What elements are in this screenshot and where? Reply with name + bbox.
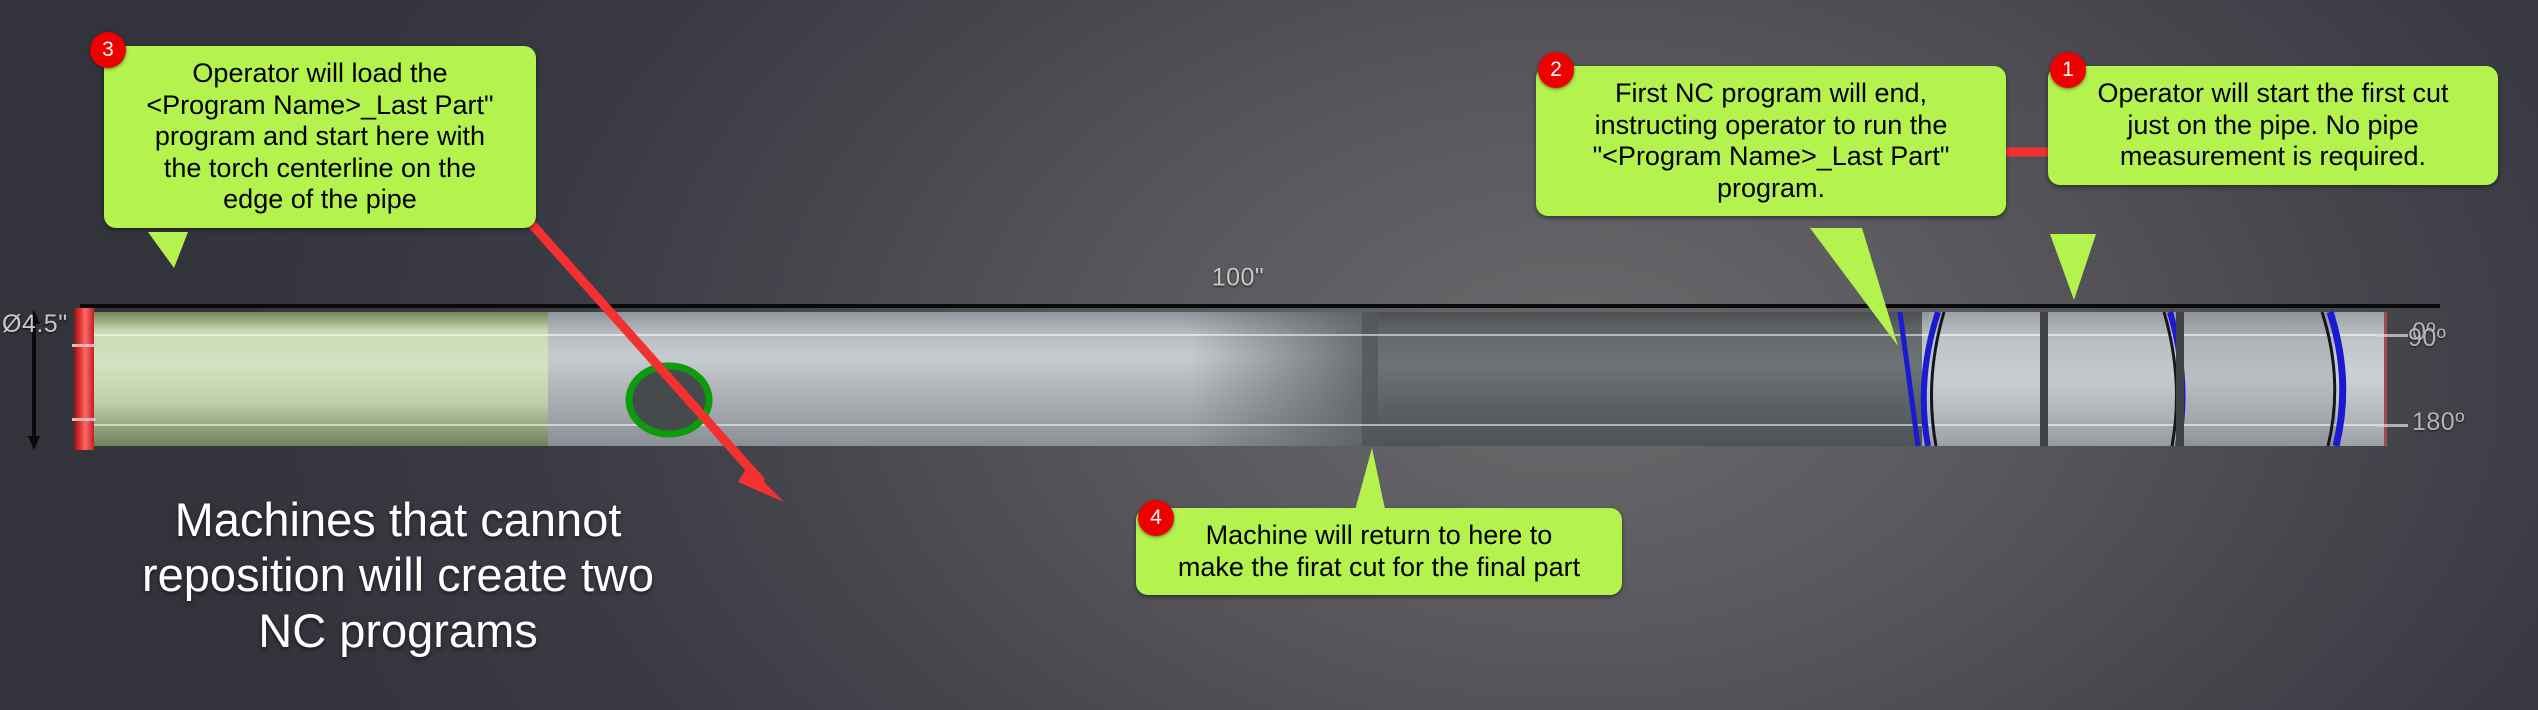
callout-3-line-1: Operator will load the (120, 58, 520, 90)
pipe-end-cap-tick-lower (72, 418, 96, 421)
callout-3-line-4: the torch centerline on the (120, 153, 520, 185)
degree-tick-0 (2376, 334, 2408, 337)
title-line-3: NC programs (98, 603, 698, 658)
callout-3-line-2: <Program Name>_Last Part" (120, 90, 520, 122)
callout-3-line-5: edge of the pipe (120, 184, 520, 216)
callout-1-badge: 1 (2050, 52, 2086, 88)
callout-4-line-2: make the firat cut for the final part (1152, 552, 1606, 584)
callout-1-line-1: Operator will start the first cut (2064, 78, 2482, 110)
callout-1-line-3: measurement is required. (2064, 141, 2482, 173)
callout-4-badge: 4 (1138, 500, 1174, 536)
title-line-1: Machines that cannot (98, 492, 698, 547)
callout-3-badge: 3 (90, 32, 126, 68)
callout-4-line-1: Machine will return to here to (1152, 520, 1606, 552)
callout-3-line-3: program and start here with (120, 121, 520, 153)
callout-2-line-4: program. (1552, 173, 1990, 205)
callout-3-tail (148, 232, 188, 268)
callout-1-line-2: just on the pipe. No pipe (2064, 110, 2482, 142)
callout-4[interactable]: Machine will return to here to make the … (1136, 508, 1622, 595)
pipe-end-cap (74, 308, 94, 450)
degree-label-180: 180º (2412, 408, 2465, 437)
degree-label-90: 90º (2408, 324, 2446, 353)
slide-canvas: 100" Ø4.5" 0º 90º 180º 3 Operator will l… (0, 0, 2538, 710)
diameter-label: Ø4.5" (2, 310, 68, 339)
pipe-end-cap-tick-upper (72, 344, 96, 347)
callout-1[interactable]: Operator will start the first cut just o… (2048, 66, 2498, 185)
callout-2[interactable]: First NC program will end, instructing o… (1536, 66, 2006, 216)
pipe-highlight-lower (88, 424, 2386, 426)
callout-2-line-1: First NC program will end, (1552, 78, 1990, 110)
page-title: Machines that cannot reposition will cre… (98, 492, 698, 658)
callout-2-badge: 2 (1538, 52, 1574, 88)
pipe-highlight-upper (88, 334, 2386, 336)
degree-tick-180 (2376, 424, 2408, 427)
length-dimension-line (80, 304, 2440, 308)
title-line-2: reposition will create two (98, 547, 698, 602)
callout-3[interactable]: Operator will load the <Program Name>_La… (104, 46, 536, 228)
callout-2-line-2: instructing operator to run the (1552, 110, 1990, 142)
length-dimension-label: 100" (1212, 264, 1265, 293)
callout-2-line-3: "<Program Name>_Last Part" (1552, 141, 1990, 173)
